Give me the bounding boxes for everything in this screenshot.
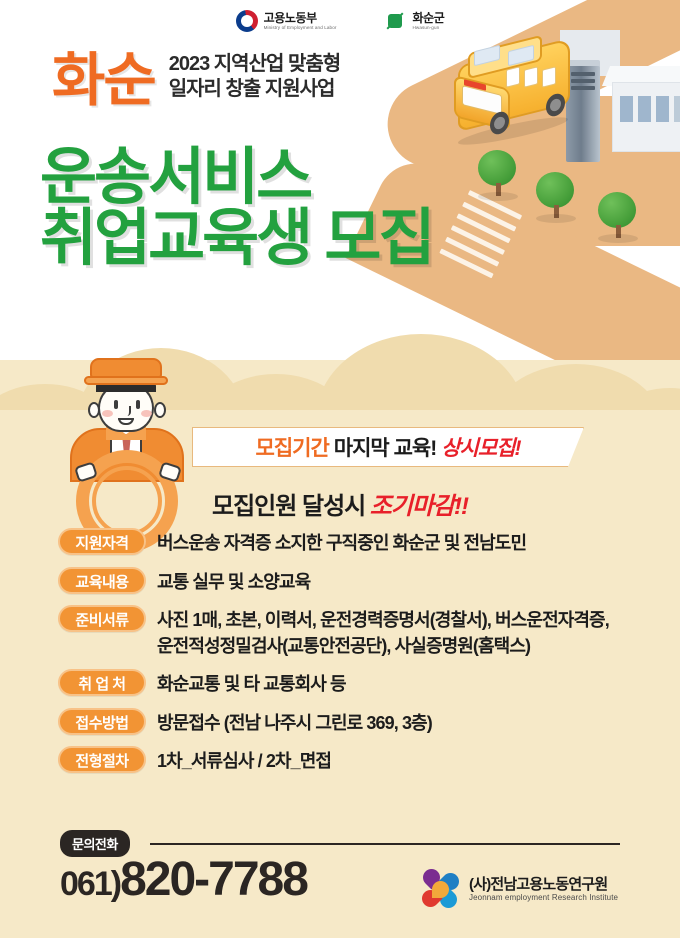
- pinwheel-icon: [420, 868, 462, 910]
- phone-prefix: 061): [60, 865, 120, 903]
- info-value-line2: 운전적성정밀검사(교통안전공단), 사실증명원(홈택스): [157, 634, 609, 660]
- info-row: 지원자격 버스운송 자격증 소지한 구직중인 화순군 및 전남도민: [58, 528, 658, 557]
- organization-logos: 고용노동부 Ministry of Employment and Labor 화…: [0, 10, 680, 32]
- info-tag-curriculum: 교육내용: [58, 567, 146, 594]
- info-row: 전형절차 1차_서류심사 / 2차_면접: [58, 746, 658, 775]
- banner-label: 모집기간: [256, 432, 329, 462]
- tree-icon: [598, 192, 638, 243]
- info-value-line1: 교통 실무 및 소양교육: [157, 572, 310, 592]
- banner-highlight: 상시모집!: [441, 432, 520, 462]
- poster-root: 고용노동부 Ministry of Employment and Labor 화…: [0, 0, 680, 938]
- logo-label-en: Hwasun-gun: [412, 25, 444, 31]
- info-value-line1: 방문접수 (전남 나주시 그린로 369, 3층): [157, 713, 432, 733]
- headline-line1: 운송서비스: [40, 148, 433, 209]
- building-windows: [620, 96, 633, 122]
- info-table: 지원자격 버스운송 자격증 소지한 구직중인 화순군 및 전남도민 교육내용 교…: [58, 528, 658, 785]
- program-subtitle-line1: 2023 지역산업 맞춤형: [169, 52, 340, 77]
- phone-number: 820-7788: [120, 853, 307, 906]
- info-value-line1: 버스운송 자격증 소지한 구직중인 화순군 및 전남도민: [157, 533, 526, 553]
- banner-middle: 마지막 교육!: [331, 432, 439, 462]
- info-row: 준비서류 사진 1매, 초본, 이력서, 운전경력증명서(경찰서), 버스운전자…: [58, 605, 658, 659]
- program-subtitle-line2: 일자리 창출 지원사업: [169, 77, 340, 102]
- early-close-notice: 모집인원 달성시 조기마감!!: [0, 486, 680, 521]
- recruitment-period-banner: 모집기간 마지막 교육! 상시모집!: [192, 427, 584, 467]
- info-row: 취 업 처 화순교통 및 타 교통회사 등: [58, 669, 658, 698]
- logo-hwasun-gun: 화순군 Hwasun-gun: [384, 10, 444, 32]
- contact-phone[interactable]: 061)820-7788: [60, 852, 307, 907]
- info-tag-eligibility: 지원자격: [58, 528, 146, 555]
- info-tag-selection-process: 전형절차: [58, 746, 146, 773]
- hero-illustration-area: 고용노동부 Ministry of Employment and Labor 화…: [0, 0, 680, 360]
- institute-logo: (사)전남고용노동연구원 Jeonnam employment Research…: [420, 868, 618, 910]
- institute-name-ko: (사)전남고용노동연구원: [469, 876, 618, 893]
- taeguk-icon: [236, 10, 258, 32]
- main-headline: 운송서비스 취업교육생 모집: [40, 148, 433, 270]
- hwasun-mark-icon: [384, 10, 406, 32]
- logo-label-ko: 고용노동부: [264, 12, 337, 25]
- footer-divider: [150, 843, 620, 845]
- logo-ministry-of-employment-and-labor: 고용노동부 Ministry of Employment and Labor: [236, 10, 337, 32]
- info-value-selection-process: 1차_서류심사 / 2차_면접: [157, 746, 331, 775]
- early-close-prefix: 모집인원 달성시: [212, 493, 365, 520]
- info-value-application-method: 방문접수 (전남 나주시 그린로 369, 3층): [157, 708, 432, 737]
- bus-driver-character-icon: [62, 358, 194, 476]
- info-value-line1: 1차_서류심사 / 2차_면접: [157, 751, 331, 771]
- info-tag-documents: 준비서류: [58, 605, 146, 632]
- early-close-highlight: 조기마감!!: [370, 493, 468, 520]
- info-value-workplace: 화순교통 및 타 교통회사 등: [157, 669, 346, 698]
- headline-line2: 취업교육생 모집: [40, 209, 433, 270]
- logo-label-en: Ministry of Employment and Labor: [264, 25, 337, 31]
- info-tag-application-method: 접수방법: [58, 708, 146, 735]
- logo-label-ko: 화순군: [412, 12, 444, 25]
- program-title-row: 화순 2023 지역산업 맞춤형 일자리 창출 지원사업: [52, 52, 340, 108]
- info-tag-workplace: 취 업 처: [58, 669, 146, 696]
- info-row: 교육내용 교통 실무 및 소양교육: [58, 567, 658, 596]
- info-value-curriculum: 교통 실무 및 소양교육: [157, 567, 310, 596]
- institute-name-en: Jeonnam employment Research Institute: [469, 893, 618, 902]
- tree-icon: [478, 150, 518, 201]
- info-value-line1: 화순교통 및 타 교통회사 등: [157, 674, 346, 694]
- info-value-documents: 사진 1매, 초본, 이력서, 운전경력증명서(경찰서), 버스운전자격증, 운…: [157, 605, 609, 659]
- program-subtitle: 2023 지역산업 맞춤형 일자리 창출 지원사업: [169, 52, 340, 108]
- info-row: 접수방법 방문접수 (전남 나주시 그린로 369, 3층): [58, 708, 658, 737]
- info-value-eligibility: 버스운송 자격증 소지한 구직중인 화순군 및 전남도민: [157, 528, 526, 557]
- footer: 문의전화 061)820-7788 (사)전남고용노동연구원 Jeonnam e…: [0, 828, 680, 938]
- info-value-line1: 사진 1매, 초본, 이력서, 운전경력증명서(경찰서), 버스운전자격증,: [157, 610, 609, 630]
- tree-icon: [536, 172, 576, 223]
- region-title: 화순: [52, 53, 155, 108]
- city-bus-icon: [452, 38, 584, 142]
